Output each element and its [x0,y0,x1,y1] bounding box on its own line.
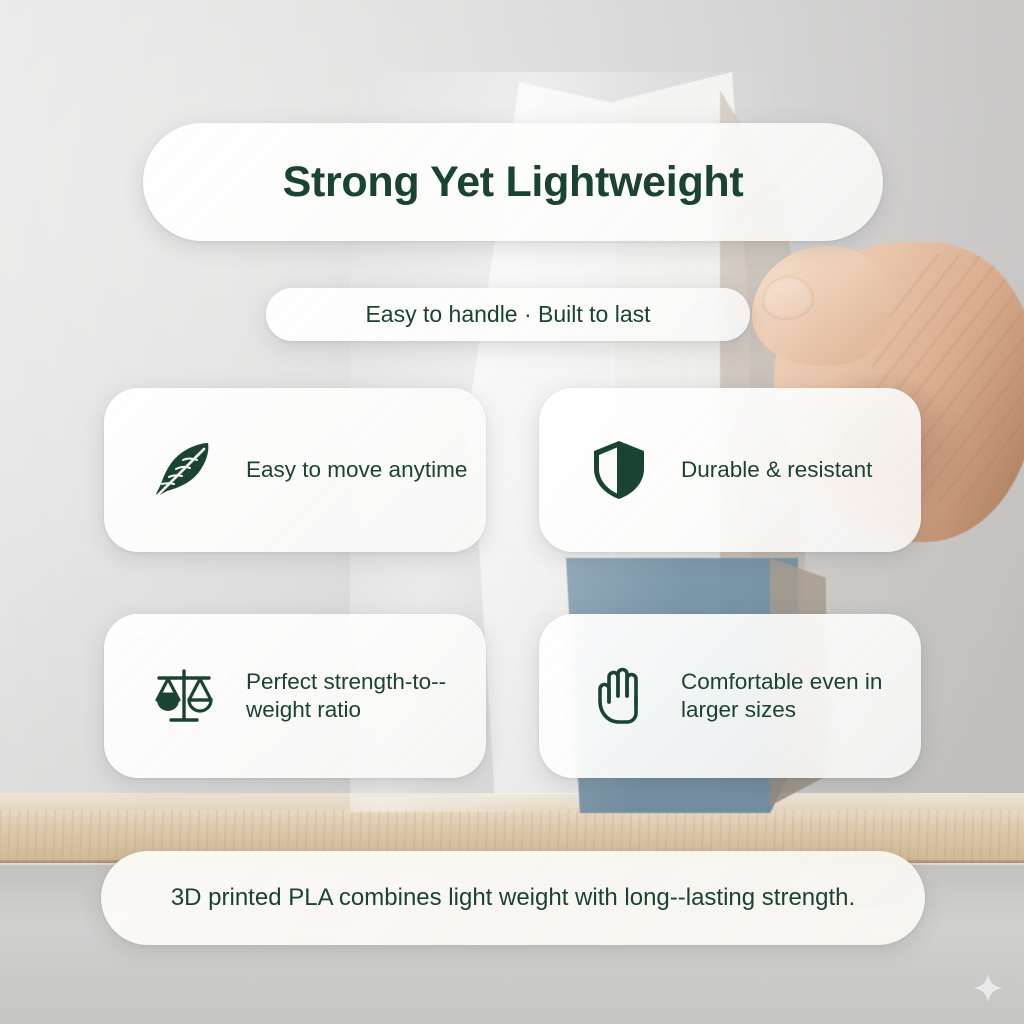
feather-icon [148,434,220,506]
feature-label: Perfect strength-to--weight ratio [246,668,478,725]
shield-icon [583,434,655,506]
thumb-nail [762,276,814,320]
title-pill: Strong Yet Lightweight [143,123,883,241]
feature-card-strength-to-weight[interactable]: Perfect strength-to--weight ratio [104,614,486,778]
sparkle-icon [972,972,1006,1006]
feature-card-easy-to-move[interactable]: Easy to move anytime [104,388,486,552]
feature-label: Easy to move anytime [246,456,467,484]
page-title: Strong Yet Lightweight [283,158,744,207]
page-subtitle: Easy to handle · Built to last [365,301,650,328]
feature-card-comfortable-larger-sizes[interactable]: Comfortable even in larger sizes [539,614,921,778]
subtitle-pill: Easy to handle · Built to last [266,288,750,341]
balance-scale-icon [148,660,220,732]
feature-card-durable-resistant[interactable]: Durable & resistant [539,388,921,552]
feature-label: Comfortable even in larger sizes [681,668,913,725]
feature-label: Durable & resistant [681,456,872,484]
open-hand-icon [583,660,655,732]
summary-text: 3D printed PLA combines light weight wit… [171,881,855,915]
summary-banner: 3D printed PLA combines light weight wit… [101,851,925,945]
promo-graphic: Strong Yet Lightweight Easy to handle · … [0,0,1024,1024]
